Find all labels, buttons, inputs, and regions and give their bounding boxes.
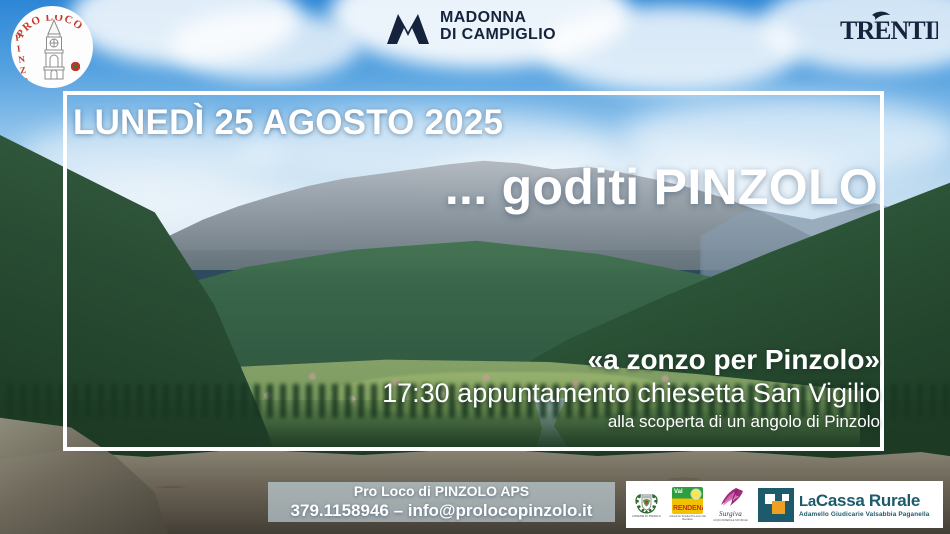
- sponsor-logo-strip: COMUNE DI PINZOLO Val RENDENA Consorzio …: [626, 481, 943, 528]
- contact-phone-email[interactable]: 379.1158946 – info@prolocopinzolo.it: [291, 500, 593, 521]
- campiglio-line-2: DI CAMPIGLIO: [440, 27, 556, 44]
- proloco-pinzolo-logo: PRO LOCO PINZOLO: [11, 6, 93, 88]
- cassa-rurale-text: LaCassa Rurale Adamello Giudicarie Valsa…: [799, 492, 930, 518]
- val-rendena-name: RENDENA: [673, 505, 702, 512]
- square-white-b: [782, 494, 789, 501]
- square-orange: [772, 501, 785, 514]
- comune-caption: COMUNE DI PINZOLO: [632, 516, 661, 519]
- bell-tower-icon: [37, 18, 71, 80]
- event-poster: PRO LOCO PINZOLO M: [0, 0, 950, 534]
- cassa-rurale-squares-icon: [758, 488, 794, 522]
- val-rendena-val: Val: [674, 489, 683, 495]
- madonna-di-campiglio-logo: MADONNA DI CAMPIGLIO: [385, 8, 556, 46]
- val-rendena-mark: Val RENDENA: [672, 487, 703, 514]
- sun-icon: [692, 490, 700, 498]
- campiglio-wordmark: MADONNA DI CAMPIGLIO: [440, 10, 556, 43]
- trentino-logo: TRENTINO: [838, 9, 938, 52]
- val-rendena-caption: Consorzio Turistico Pro Loco Val Rendena: [669, 516, 706, 522]
- contact-bar: Pro Loco di PINZOLO APS 379.1158946 – in…: [268, 482, 615, 522]
- trentino-wordmark-svg: TRENTINO: [838, 9, 938, 47]
- trentino-text: TRENTINO: [840, 16, 938, 45]
- cassa-rurale-name: LaCassa Rurale: [799, 492, 930, 509]
- campiglio-line-1: MADONNA: [440, 10, 556, 27]
- surgiva-wordmark: Surgiva: [719, 510, 742, 518]
- event-note: alla scoperta di un angolo di Pinzolo: [382, 411, 880, 434]
- cassa-rurale-region: Adamello Giudicarie Valsabbia Paganella: [799, 511, 930, 518]
- sponsor-comune-pinzolo: COMUNE DI PINZOLO: [626, 481, 667, 528]
- cassa-rest: Cassa Rurale: [816, 491, 920, 510]
- event-details-block: «a zonzo per Pinzolo» 17:30 appuntamento…: [382, 344, 880, 434]
- sponsor-la-cassa-rurale: LaCassa Rurale Adamello Giudicarie Valsa…: [753, 481, 943, 528]
- event-title: «a zonzo per Pinzolo»: [382, 344, 880, 376]
- event-date: LUNEDÌ 25 AGOSTO 2025: [73, 103, 503, 143]
- sponsor-val-rendena: Val RENDENA Consorzio Turistico Pro Loco…: [667, 481, 708, 528]
- surgiva-swoosh-icon: [718, 487, 744, 509]
- sponsor-surgiva: Surgiva ACQUA MINERALE NATURALE: [708, 481, 753, 528]
- contact-organization: Pro Loco di PINZOLO APS: [354, 483, 529, 501]
- poster-headline: ... goditi PINZOLO: [445, 158, 878, 216]
- cassa-la: La: [799, 493, 816, 510]
- surgiva-caption: ACQUA MINERALE NATURALE: [713, 519, 748, 522]
- campiglio-mountain-icon: [385, 8, 431, 46]
- event-time-place: 17:30 appuntamento chiesetta San Vigilio: [382, 376, 880, 411]
- flower-icon: [71, 62, 80, 71]
- background-landscape-photo: [0, 0, 950, 534]
- comune-crest-icon: [633, 491, 660, 515]
